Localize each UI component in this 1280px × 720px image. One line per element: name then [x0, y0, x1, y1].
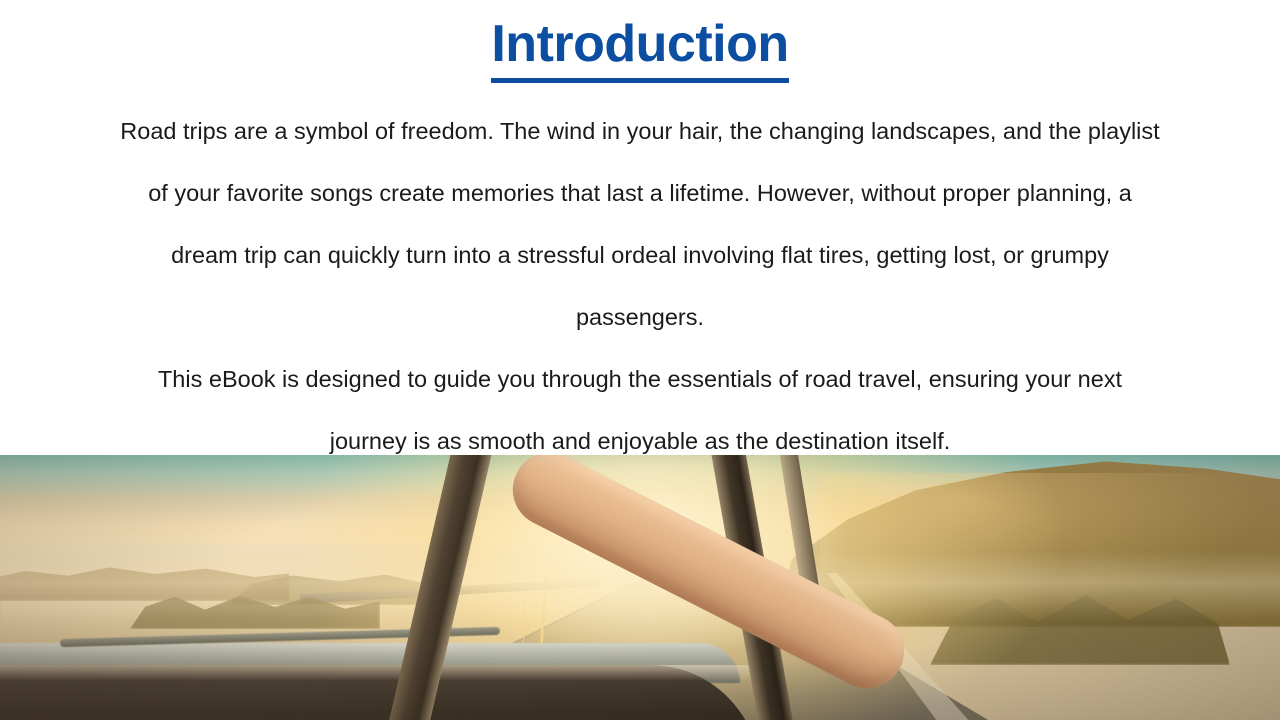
paragraph-1: Road trips are a symbol of freedom. The … [118, 100, 1162, 348]
body-copy: Road trips are a symbol of freedom. The … [118, 100, 1162, 472]
page-title-container: Introduction [0, 14, 1280, 83]
hero-photo [0, 455, 1280, 720]
vignette-overlay [0, 455, 1280, 720]
slide-canvas: Introduction Road trips are a symbol of … [0, 0, 1280, 720]
page-title: Introduction [491, 14, 788, 83]
paragraph-2: This eBook is designed to guide you thro… [118, 348, 1162, 472]
